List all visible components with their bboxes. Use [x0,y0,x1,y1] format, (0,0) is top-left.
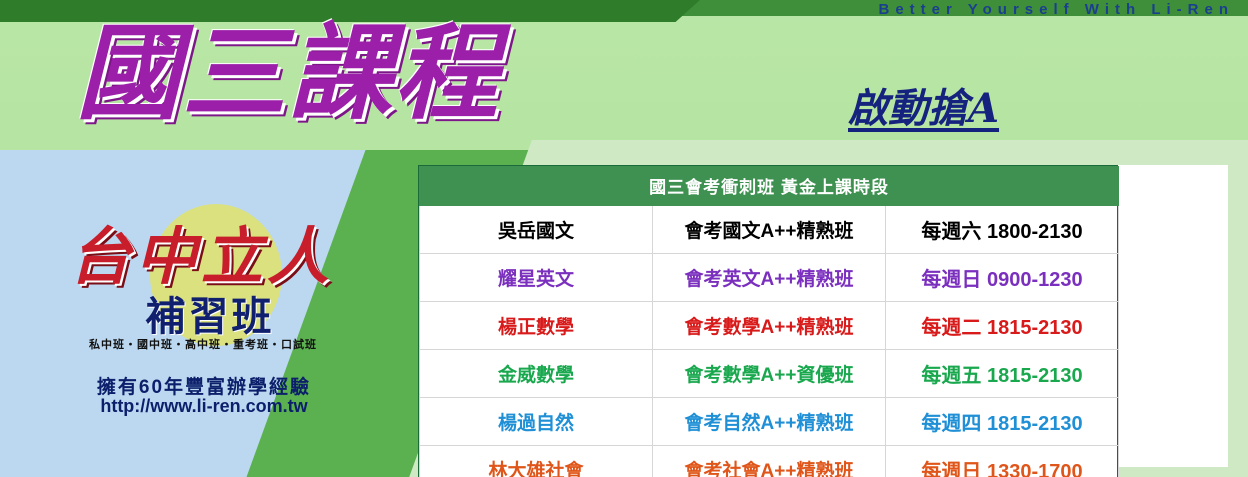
logo: 台中立人 補習班 私中班・國中班・高中班・重考班・口試班 擁有60年豐富辦學經驗… [30,196,375,426]
cell-teacher: 金威數學 [420,350,653,398]
logo-experience: 擁有60年豐富辦學經驗 [54,372,354,399]
poster-root: Better Yourself With Li-Ren 國三課程 啟動搶A 台中… [0,0,1248,477]
cell-time: 每週四 1815-2130 [886,398,1119,446]
cell-time: 每週二 1815-2130 [886,302,1119,350]
cell-time: 每週六 1800-2130 [886,206,1119,254]
table-row: 林大雄社會 會考社會A++精熟班 每週日 1330-1700 [420,446,1119,477]
cell-teacher: 楊過自然 [420,398,653,446]
table-row: 楊正數學 會考數學A++精熟班 每週二 1815-2130 [420,302,1119,350]
cell-course: 會考數學A++精熟班 [653,302,886,350]
table-row: 金威數學 會考數學A++資優班 每週五 1815-2130 [420,350,1119,398]
table-row: 楊過自然 會考自然A++精熟班 每週四 1815-2130 [420,398,1119,446]
cell-teacher: 林大雄社會 [420,446,653,477]
logo-name-main: 台中立人 [36,206,366,296]
cell-teacher: 楊正數學 [420,302,653,350]
cell-time: 每週日 0900-1230 [886,254,1119,302]
cell-course: 會考數學A++資優班 [653,350,886,398]
cell-course: 會考國文A++精熟班 [653,206,886,254]
table-header-row: 國三會考衝刺班 黃金上課時段 [420,167,1119,206]
cell-time: 每週五 1815-2130 [886,350,1119,398]
cell-time: 每週日 1330-1700 [886,446,1119,477]
cell-teacher: 吳岳國文 [420,206,653,254]
schedule-header: 國三會考衝刺班 黃金上課時段 [420,167,1119,206]
cell-teacher: 耀星英文 [420,254,653,302]
tagline: Better Yourself With Li-Ren [879,1,1235,18]
logo-class-types: 私中班・國中班・高中班・重考班・口試班 [58,336,348,352]
table-row: 吳岳國文 會考國文A++精熟班 每週六 1800-2130 [420,206,1119,254]
logo-website-url[interactable]: http://www.li-ren.com.tw [54,396,354,417]
cell-course: 會考自然A++精熟班 [653,398,886,446]
cell-course: 會考英文A++精熟班 [653,254,886,302]
table-row: 耀星英文 會考英文A++精熟班 每週日 0900-1230 [420,254,1119,302]
page-title: 國三課程 [76,18,500,127]
logo-name-sub: 補習班 [90,284,330,342]
cell-course: 會考社會A++精熟班 [653,446,886,477]
schedule-table: 國三會考衝刺班 黃金上課時段 吳岳國文 會考國文A++精熟班 每週六 1800-… [418,165,1118,477]
page-subtitle: 啟動搶A [848,76,999,134]
